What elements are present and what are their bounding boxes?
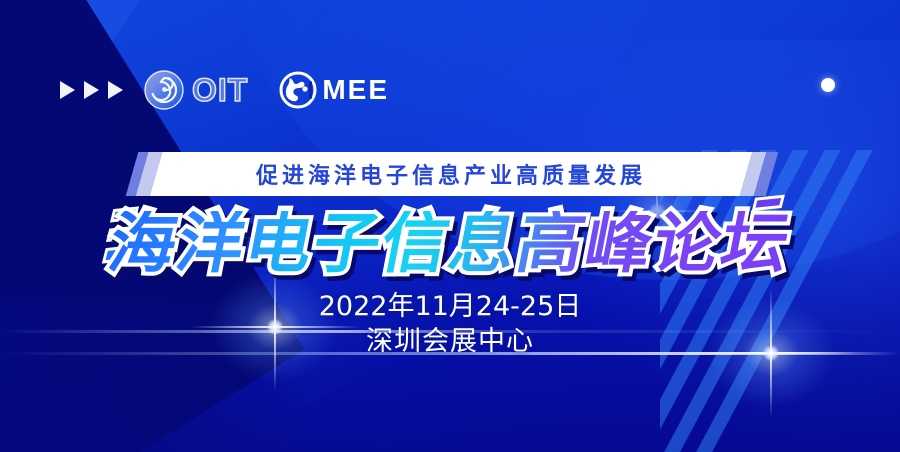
play-arrow-icon	[60, 81, 75, 99]
event-date: 2022年11月24-25日	[0, 290, 900, 324]
mee-globe-logo-icon	[278, 70, 318, 110]
play-arrow-icon	[84, 81, 99, 99]
event-meta: 2022年11月24-25日 深圳会展中心	[0, 290, 900, 360]
play-arrow-icon	[108, 81, 123, 99]
subtitle-text: 促进海洋电子信息产业高质量发展	[256, 158, 646, 190]
logo-oit-text: OIT	[192, 74, 248, 106]
play-arrows-decoration	[60, 81, 123, 99]
main-title: 海洋电子信息高峰论坛 海洋电子信息高峰论坛 海洋电子信息高峰论坛	[104, 211, 797, 277]
logo-mee-text: MEE	[322, 76, 389, 104]
logo-mee: MEE	[278, 70, 389, 110]
main-title-wrap: 海洋电子信息高峰论坛 海洋电子信息高峰论坛 海洋电子信息高峰论坛	[0, 204, 900, 284]
subtitle-band: 促进海洋电子信息产业高质量发展	[126, 152, 779, 196]
dot-accent-icon	[821, 78, 835, 92]
event-banner: OIT MEE 促进海洋电子信息产业高质量发展	[0, 0, 900, 452]
oit-spiral-logo-icon	[143, 69, 185, 111]
band-plate: 促进海洋电子信息产业高质量发展	[150, 152, 753, 196]
banner-header: OIT MEE	[60, 66, 389, 114]
main-title-text: 海洋电子信息高峰论坛	[104, 211, 797, 277]
event-venue: 深圳会展中心	[0, 324, 900, 360]
logo-oit: OIT	[143, 69, 248, 111]
